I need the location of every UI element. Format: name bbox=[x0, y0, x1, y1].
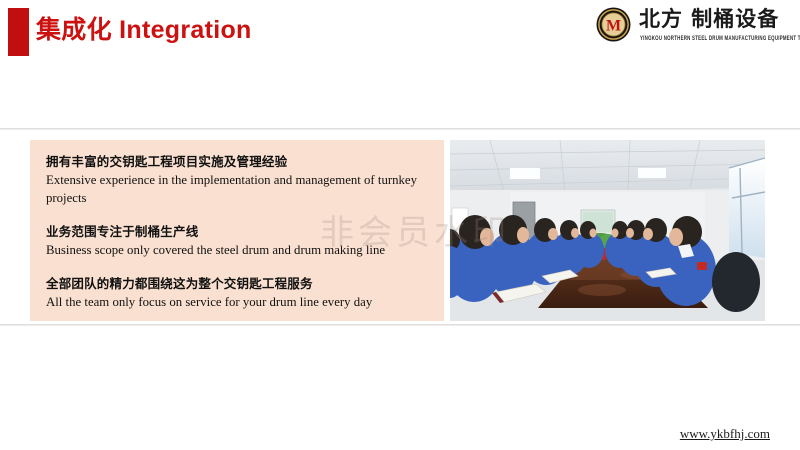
feature-item: 全部团队的精力都围绕这为整个交钥匙工程服务 All the team only … bbox=[46, 274, 428, 311]
page-title: 集成化 Integration bbox=[36, 13, 252, 47]
feature-item: 拥有丰富的交钥匙工程项目实施及管理经验 Extensive experience… bbox=[46, 152, 428, 207]
feature-english-text: Extensive experience in the implementati… bbox=[46, 171, 428, 207]
feature-item: 业务范围专注于制桶生产线 Business scope only covered… bbox=[46, 222, 428, 259]
page-header: 集成化 Integration M 北方 制桶设备 YINGKOU NORTHE… bbox=[0, 0, 800, 60]
title-accent-bar bbox=[8, 8, 29, 56]
logo-chinese-name: 北方 制桶设备 bbox=[639, 6, 779, 32]
logo-english-name: YINGKOU NORTHERN STEEL DRUM MANUFACTURIN… bbox=[640, 34, 800, 41]
feature-chinese-text: 业务范围专注于制桶生产线 bbox=[46, 222, 428, 241]
feature-english-text: All the team only focus on service for y… bbox=[46, 293, 428, 311]
logo-emblem-icon: M bbox=[596, 7, 631, 42]
feature-english-text: Business scope only covered the steel dr… bbox=[46, 241, 428, 259]
divider-bottom bbox=[0, 324, 800, 326]
feature-chinese-text: 拥有丰富的交钥匙工程项目实施及管理经验 bbox=[46, 152, 428, 171]
features-text-panel: 拥有丰富的交钥匙工程项目实施及管理经验 Extensive experience… bbox=[30, 140, 444, 321]
divider-top bbox=[0, 128, 800, 130]
svg-text:M: M bbox=[606, 18, 621, 35]
company-logo: M 北方 制桶设备 YINGKOU NORTHERN STEEL DRUM MA… bbox=[596, 2, 798, 50]
meeting-room-photo bbox=[450, 140, 765, 321]
footer-website-url[interactable]: www.ykbfhj.com bbox=[680, 426, 770, 442]
feature-chinese-text: 全部团队的精力都围绕这为整个交钥匙工程服务 bbox=[46, 274, 428, 293]
